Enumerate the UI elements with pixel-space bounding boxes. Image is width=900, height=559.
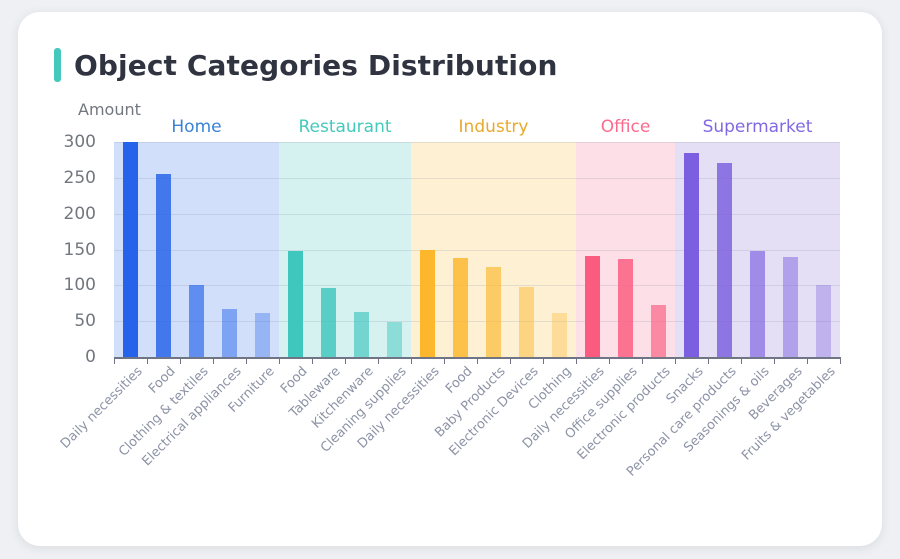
bar[interactable] xyxy=(387,322,402,357)
x-axis-tick xyxy=(576,357,577,364)
x-axis-tick xyxy=(840,357,841,364)
x-axis-tick xyxy=(741,357,742,364)
x-axis-tick xyxy=(279,357,280,364)
group-label-office: Office xyxy=(601,117,651,137)
chart-card: Object Categories Distribution Amount Ho… xyxy=(18,12,882,546)
x-axis-tick xyxy=(411,357,412,364)
x-axis-tick xyxy=(345,357,346,364)
x-axis-tick xyxy=(774,357,775,364)
y-axis-title: Amount xyxy=(78,100,141,119)
bar[interactable] xyxy=(255,313,270,357)
y-axis-tick-label: 50 xyxy=(18,311,96,331)
x-axis-tick xyxy=(444,357,445,364)
y-axis-tick-label: 0 xyxy=(18,347,96,367)
y-axis-tick-label: 300 xyxy=(18,132,96,152)
y-axis-tick-label: 250 xyxy=(18,168,96,188)
bar[interactable] xyxy=(750,251,765,357)
y-axis-tick-label: 150 xyxy=(18,240,96,260)
bar[interactable] xyxy=(486,267,501,357)
bar[interactable] xyxy=(321,288,336,357)
bar[interactable] xyxy=(156,174,171,357)
x-axis-tick xyxy=(114,357,115,364)
bar[interactable] xyxy=(519,287,534,357)
bar[interactable] xyxy=(783,257,798,357)
x-axis-tick xyxy=(642,357,643,364)
bar[interactable] xyxy=(453,258,468,357)
bar[interactable] xyxy=(288,251,303,357)
x-axis-tick xyxy=(477,357,478,364)
bar[interactable] xyxy=(123,142,138,357)
bar[interactable] xyxy=(222,309,237,357)
group-label-home: Home xyxy=(171,117,221,137)
bar[interactable] xyxy=(816,285,831,357)
x-axis-tick xyxy=(378,357,379,364)
x-axis-tick xyxy=(609,357,610,364)
bar[interactable] xyxy=(420,250,435,358)
group-label-industry: Industry xyxy=(459,117,529,137)
bar[interactable] xyxy=(618,259,633,357)
group-label-restaurant: Restaurant xyxy=(298,117,391,137)
y-axis-tick-label: 100 xyxy=(18,275,96,295)
bar[interactable] xyxy=(354,312,369,357)
title-accent-bar xyxy=(54,48,61,82)
bar[interactable] xyxy=(684,153,699,357)
x-axis-tick xyxy=(543,357,544,364)
plot-area xyxy=(114,142,840,357)
page-title: Object Categories Distribution xyxy=(74,49,558,82)
x-axis-tick xyxy=(510,357,511,364)
bar[interactable] xyxy=(717,163,732,357)
x-axis-tick xyxy=(708,357,709,364)
chart-title-row: Object Categories Distribution xyxy=(54,48,558,82)
x-axis-tick xyxy=(147,357,148,364)
x-axis-tick xyxy=(807,357,808,364)
x-axis-tick xyxy=(213,357,214,364)
bar[interactable] xyxy=(585,256,600,357)
bar[interactable] xyxy=(189,285,204,357)
x-axis-tick xyxy=(312,357,313,364)
x-axis-tick xyxy=(246,357,247,364)
bar[interactable] xyxy=(651,305,666,357)
group-label-supermarket: Supermarket xyxy=(703,117,813,137)
bar[interactable] xyxy=(552,313,567,357)
y-axis-tick-label: 200 xyxy=(18,204,96,224)
gridline xyxy=(114,142,840,143)
x-axis-tick xyxy=(675,357,676,364)
x-axis-tick xyxy=(180,357,181,364)
